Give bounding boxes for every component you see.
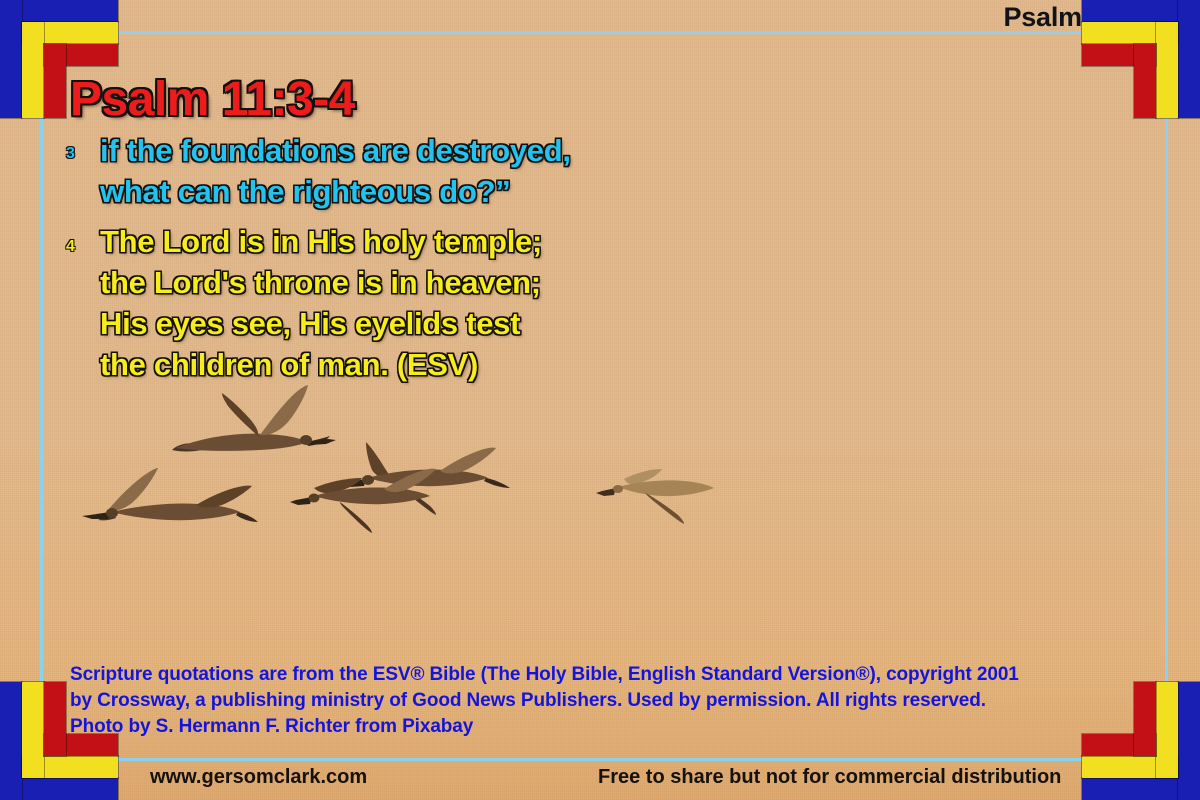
verse-line: if the foundations are destroyed, — [100, 130, 826, 171]
goose-icon — [288, 452, 458, 542]
verse-3: 3 if the foundations are destroyed, what… — [66, 130, 826, 212]
scripture-slide: Psalm Psalm 11:3-4 3 if the foundations … — [0, 0, 1200, 800]
footer-usage-note: Free to share but not for commercial dis… — [598, 766, 1061, 789]
verse-lines: if the foundations are destroyed, what c… — [100, 130, 826, 212]
scripture-reference-title: Psalm 11:3-4 — [70, 72, 355, 127]
photo-credit-line: Photo by S. Hermann F. Richter from Pixa… — [70, 714, 1100, 740]
corner-bracket-top-right — [1082, 0, 1200, 118]
goose-icon — [596, 455, 726, 530]
verse-number: 4 — [66, 221, 100, 255]
verse-lines: The Lord is in His holy temple; the Lord… — [100, 221, 826, 385]
verse-line: the children of man. (ESV) — [100, 344, 826, 385]
goose-icon — [78, 450, 268, 550]
copyright-notice: Scripture quotations are from the ESV® B… — [70, 662, 1100, 740]
verse-line: the Lord's throne is in heaven; — [100, 262, 826, 303]
verse-number: 3 — [66, 130, 100, 162]
footer-website-url[interactable]: www.gersomclark.com — [150, 766, 367, 789]
verse-block: 3 if the foundations are destroyed, what… — [66, 130, 826, 385]
verse-line: The Lord is in His holy temple; — [100, 221, 826, 262]
verse-4: 4 The Lord is in His holy temple; the Lo… — [66, 221, 826, 385]
verse-line: His eyes see, His eyelids test — [100, 303, 826, 344]
copyright-line: Scripture quotations are from the ESV® B… — [70, 662, 1100, 688]
copyright-line: by Crossway, a publishing ministry of Go… — [70, 688, 1100, 714]
book-label: Psalm — [1003, 2, 1082, 33]
verse-line: what can the righteous do?” — [100, 171, 826, 212]
